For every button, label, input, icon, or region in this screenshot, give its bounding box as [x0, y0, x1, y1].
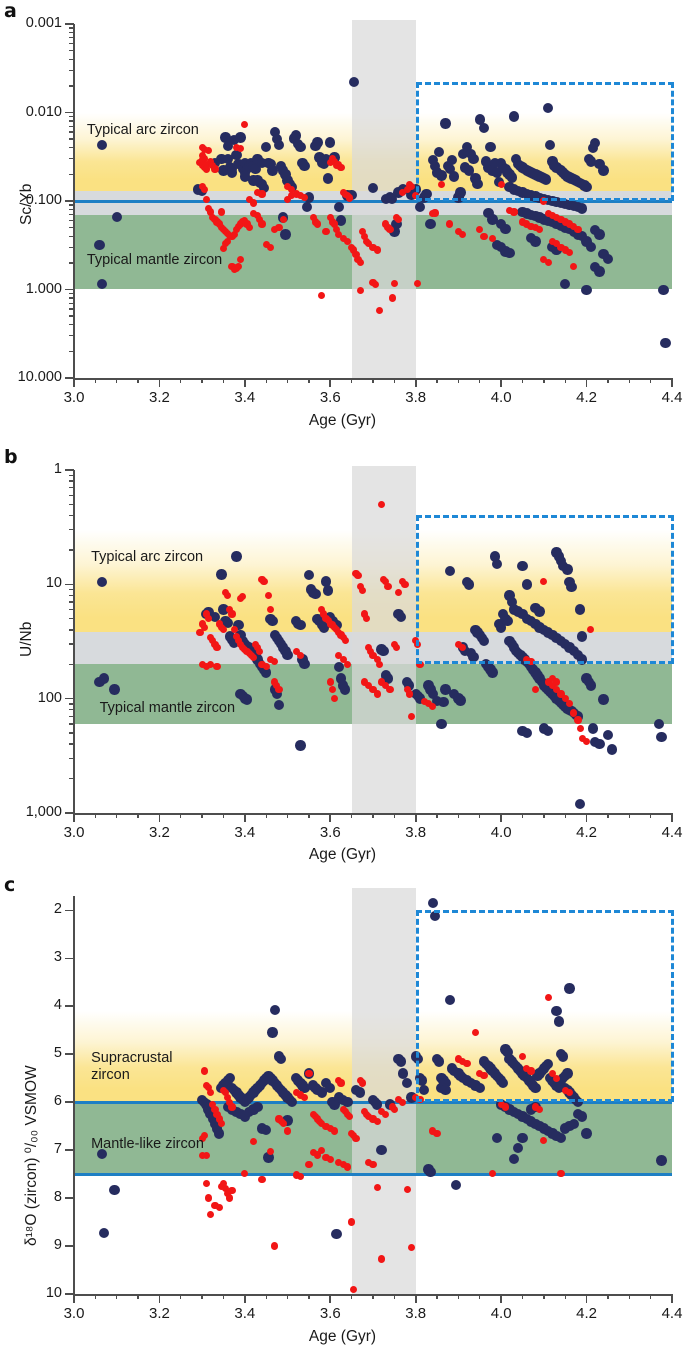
y-tick-minor: [69, 480, 74, 481]
x-tick-major: [73, 813, 75, 822]
y-tick-label: 10.000: [0, 369, 62, 385]
x-tick-minor: [266, 813, 267, 818]
data-point-red: [318, 1147, 325, 1154]
x-tick-label: 3.0: [39, 824, 109, 841]
data-point-navy: [242, 694, 252, 704]
y-tick-minor: [69, 601, 74, 602]
x-tick-minor: [308, 813, 309, 818]
y-tick-label: 5: [0, 1045, 62, 1061]
data-point-red: [237, 256, 244, 263]
data-point-navy: [598, 694, 608, 704]
y-tick-minor: [69, 85, 74, 86]
data-point-red: [216, 1204, 223, 1211]
x-tick-label: 4.0: [466, 1305, 536, 1322]
data-point-navy: [656, 732, 666, 742]
panel-b-plot-area: Typical arc zirconTypical mantle zircon1…: [74, 470, 672, 813]
data-point-red: [391, 280, 398, 287]
y-tick-minor: [69, 43, 74, 44]
x-tick-label: 4.4: [637, 1305, 685, 1322]
data-point-navy: [109, 684, 119, 694]
data-point-red: [346, 194, 353, 201]
data-point-red: [250, 199, 257, 206]
y-tick-minor: [69, 158, 74, 159]
y-tick-minor: [69, 335, 74, 336]
x-tick-minor: [565, 1294, 566, 1299]
y-tick-major: [65, 698, 74, 700]
data-point-red: [203, 196, 210, 203]
x-tick-minor: [266, 378, 267, 383]
y-tick-minor: [69, 116, 74, 117]
data-point-red: [226, 1194, 233, 1201]
data-point-navy: [257, 158, 267, 168]
x-tick-label: 3.6: [295, 1305, 365, 1322]
data-point-navy: [235, 132, 245, 142]
x-tick-label: 4.0: [466, 389, 536, 406]
data-point-navy: [312, 137, 322, 147]
x-tick-major: [586, 1294, 588, 1303]
data-point-red: [267, 1148, 274, 1155]
data-point-navy: [522, 728, 532, 738]
data-point-red: [201, 1067, 208, 1074]
data-point-navy: [588, 723, 598, 733]
y-tick-label: 4: [0, 997, 62, 1013]
y-tick-minor: [69, 50, 74, 51]
data-point-red: [536, 226, 543, 233]
data-point-red: [574, 226, 581, 233]
data-point-red: [354, 572, 361, 579]
x-tick-minor: [351, 1294, 352, 1299]
data-point-red: [284, 1127, 291, 1134]
y-tick-minor: [69, 236, 74, 237]
data-point-red: [574, 716, 581, 723]
y-tick-label: 0.100: [0, 192, 62, 208]
data-point-red: [510, 208, 517, 215]
reference-line-1: [74, 1173, 672, 1176]
y-tick-minor: [69, 227, 74, 228]
data-point-navy: [376, 1145, 386, 1155]
data-point-navy: [607, 744, 617, 754]
x-tick-minor: [629, 1294, 630, 1299]
data-point-navy: [97, 140, 107, 150]
x-tick-minor: [458, 378, 459, 383]
x-tick-minor: [180, 378, 181, 383]
x-tick-label: 3.4: [210, 1305, 280, 1322]
x-tick-major: [671, 378, 673, 387]
data-point-red: [404, 1186, 411, 1193]
y-tick-minor: [69, 126, 74, 127]
band-annotation-1: Typical mantle zircon: [100, 700, 235, 717]
data-point-red: [374, 690, 381, 697]
data-point-red: [228, 610, 235, 617]
x-tick-minor: [137, 813, 138, 818]
y-tick-minor: [69, 308, 74, 309]
x-tick-minor: [372, 1294, 373, 1299]
x-tick-label: 3.8: [381, 824, 451, 841]
y-tick-minor: [69, 487, 74, 488]
data-point-red: [570, 709, 577, 716]
data-point-red: [213, 644, 220, 651]
data-point-red: [203, 1180, 210, 1187]
data-point-navy: [355, 1087, 365, 1097]
x-tick-minor: [479, 378, 480, 383]
x-tick-label: 3.8: [381, 1305, 451, 1322]
data-point-red: [250, 654, 257, 661]
data-point-red: [275, 224, 282, 231]
x-tick-label: 4.2: [552, 824, 622, 841]
x-tick-minor: [201, 813, 202, 818]
y-tick-minor: [69, 293, 74, 294]
x-tick-minor: [607, 378, 608, 383]
data-point-red: [577, 725, 584, 732]
y-tick-minor: [69, 147, 74, 148]
x-tick-minor: [565, 378, 566, 383]
y-tick-minor: [69, 643, 74, 644]
x-tick-minor: [116, 813, 117, 818]
data-point-red: [553, 678, 560, 685]
data-point-navy: [267, 616, 277, 626]
x-tick-label: 3.4: [210, 389, 280, 406]
data-point-red: [271, 1242, 278, 1249]
data-point-red: [337, 164, 344, 171]
data-point-red: [502, 1103, 509, 1110]
x-tick-minor: [436, 813, 437, 818]
y-tick-label: 3: [0, 949, 62, 965]
x-tick-minor: [116, 378, 117, 383]
data-point-red: [318, 292, 325, 299]
y-tick-minor: [69, 220, 74, 221]
y-tick-label: 2: [0, 901, 62, 917]
x-tick-minor: [180, 813, 181, 818]
x-tick-major: [500, 378, 502, 387]
data-point-red: [480, 233, 487, 240]
data-point-navy: [581, 1128, 591, 1138]
data-point-navy: [295, 740, 305, 750]
data-point-navy: [594, 266, 604, 276]
data-point-navy: [227, 167, 237, 177]
y-tick-major: [65, 200, 74, 202]
x-tick-major: [159, 378, 161, 387]
data-point-navy: [396, 1056, 406, 1066]
data-point-red: [218, 208, 225, 215]
x-tick-major: [73, 378, 75, 387]
x-tick-minor: [95, 813, 96, 818]
x-tick-minor: [287, 378, 288, 383]
y-tick-major: [65, 1245, 74, 1247]
data-point-red: [489, 1170, 496, 1177]
data-point-red: [408, 1244, 415, 1251]
data-point-red: [348, 1218, 355, 1225]
data-point-navy: [334, 662, 344, 672]
y-tick-label: 0.001: [0, 15, 62, 31]
panel-a: a Sc/Yb Age (Gyr) Typical arc zirconTypi…: [0, 0, 685, 432]
data-point-navy: [660, 338, 670, 348]
data-point-red: [267, 244, 274, 251]
x-tick-label: 3.2: [124, 824, 194, 841]
data-point-navy: [517, 1133, 527, 1143]
y-tick-minor: [69, 629, 74, 630]
y-tick-minor: [69, 324, 74, 325]
data-point-red: [583, 738, 590, 745]
data-point-navy: [455, 695, 465, 705]
x-tick-major: [244, 1294, 246, 1303]
x-tick-label: 3.2: [124, 389, 194, 406]
y-tick-major: [65, 1053, 74, 1055]
x-tick-minor: [372, 813, 373, 818]
data-point-navy: [325, 137, 335, 147]
panel-c-label: c: [4, 876, 15, 895]
panel-c: c δ¹⁸O (zircon) ⁰/₀₀ VSMOW Age (Gyr) Sup…: [0, 866, 685, 1351]
data-point-red: [305, 1070, 312, 1077]
x-tick-label: 3.0: [39, 389, 109, 406]
x-tick-minor: [180, 1294, 181, 1299]
y-tick-major: [65, 1149, 74, 1151]
y-tick-label: 10: [0, 575, 62, 591]
data-point-navy: [594, 229, 604, 239]
y-tick-major: [65, 958, 74, 960]
y-tick-minor: [69, 703, 74, 704]
y-tick-label: 9: [0, 1237, 62, 1253]
data-point-red: [297, 652, 304, 659]
data-point-red: [275, 686, 282, 693]
x-tick-major: [415, 1294, 417, 1303]
data-point-red: [246, 224, 253, 231]
y-tick-minor: [69, 495, 74, 496]
zircon-geochemistry-figure: a Sc/Yb Age (Gyr) Typical arc zirconTypi…: [0, 0, 685, 1351]
data-point-navy: [97, 577, 107, 587]
x-tick-minor: [137, 1294, 138, 1299]
x-tick-minor: [223, 378, 224, 383]
data-point-red: [406, 690, 413, 697]
y-tick-minor: [69, 529, 74, 530]
x-tick-minor: [543, 1294, 544, 1299]
data-point-red: [344, 1163, 351, 1170]
y-tick-minor: [69, 297, 74, 298]
data-point-red: [265, 592, 272, 599]
x-tick-minor: [394, 378, 395, 383]
data-point-navy: [504, 248, 514, 258]
data-point-navy: [295, 142, 305, 152]
data-point-red: [327, 678, 334, 685]
data-point-red: [384, 583, 391, 590]
data-point-navy: [483, 208, 493, 218]
x-tick-minor: [607, 813, 608, 818]
data-point-red: [201, 186, 208, 193]
y-tick-minor: [69, 778, 74, 779]
data-point-red: [374, 246, 381, 253]
x-tick-label: 4.2: [552, 1305, 622, 1322]
x-tick-major: [73, 1294, 75, 1303]
y-tick-minor: [69, 515, 74, 516]
data-point-red: [374, 1184, 381, 1191]
y-tick-minor: [69, 174, 74, 175]
x-tick-major: [244, 378, 246, 387]
band-annotation-0: Typical arc zircon: [91, 549, 203, 566]
data-point-red: [374, 1118, 381, 1125]
data-point-red: [433, 1130, 440, 1137]
x-tick-minor: [543, 378, 544, 383]
x-tick-minor: [650, 378, 651, 383]
data-point-navy: [487, 667, 497, 677]
data-point-red: [532, 686, 539, 693]
data-point-red: [357, 287, 364, 294]
y-tick-major: [65, 112, 74, 114]
x-tick-label: 3.0: [39, 1305, 109, 1322]
highlight-box: [416, 82, 674, 201]
x-tick-major: [500, 813, 502, 822]
band-annotation-0: Typical arc zircon: [87, 122, 199, 139]
x-tick-major: [415, 813, 417, 822]
x-tick-minor: [522, 813, 523, 818]
x-tick-label: 4.0: [466, 824, 536, 841]
data-point-red: [322, 228, 329, 235]
y-tick-major: [65, 1005, 74, 1007]
y-tick-label: 6: [0, 1093, 62, 1109]
x-tick-major: [671, 813, 673, 822]
y-tick-minor: [69, 37, 74, 38]
x-tick-label: 3.6: [295, 824, 365, 841]
data-point-red: [207, 1211, 214, 1218]
x-tick-major: [415, 378, 417, 387]
y-tick-minor: [69, 131, 74, 132]
data-point-red: [386, 686, 393, 693]
y-tick-minor: [69, 618, 74, 619]
data-point-navy: [323, 173, 333, 183]
x-tick-minor: [436, 1294, 437, 1299]
panel-a-x-axis-title: Age (Gyr): [0, 412, 685, 430]
y-tick-label: 1: [0, 461, 62, 477]
x-tick-minor: [650, 1294, 651, 1299]
panel-c-x-axis-title: Age (Gyr): [0, 1328, 685, 1346]
x-tick-major: [329, 378, 331, 387]
data-point-red: [205, 1194, 212, 1201]
x-tick-major: [329, 813, 331, 822]
y-tick-major: [65, 910, 74, 912]
y-tick-minor: [69, 209, 74, 210]
y-tick-label: 1,000: [0, 804, 62, 820]
data-point-red: [201, 624, 208, 631]
y-tick-major: [65, 584, 74, 586]
data-point-navy: [223, 154, 233, 164]
data-point-navy: [436, 719, 446, 729]
data-point-red: [557, 1170, 564, 1177]
x-tick-minor: [223, 813, 224, 818]
y-tick-minor: [69, 120, 74, 121]
x-tick-minor: [629, 813, 630, 818]
y-tick-label: 7: [0, 1141, 62, 1157]
y-tick-minor: [69, 204, 74, 205]
data-point-navy: [658, 285, 668, 295]
x-tick-minor: [308, 378, 309, 383]
x-tick-minor: [650, 813, 651, 818]
y-tick-minor: [69, 262, 74, 263]
data-point-navy: [99, 1228, 109, 1238]
y-tick-minor: [69, 475, 74, 476]
data-point-navy: [428, 898, 438, 908]
data-point-red: [376, 307, 383, 314]
x-tick-major: [586, 378, 588, 387]
y-tick-minor: [69, 138, 74, 139]
y-tick-minor: [69, 27, 74, 28]
y-tick-minor: [69, 303, 74, 304]
data-point-navy: [530, 236, 540, 246]
panel-b-x-axis-title: Age (Gyr): [0, 846, 685, 864]
data-point-red: [376, 661, 383, 668]
data-point-red: [378, 1255, 385, 1262]
y-tick-minor: [69, 351, 74, 352]
x-tick-major: [159, 813, 161, 822]
data-point-red: [344, 661, 351, 668]
y-tick-major: [65, 1101, 74, 1103]
data-point-red: [352, 1135, 359, 1142]
y-tick-label: 100: [0, 690, 62, 706]
y-axis-line: [73, 470, 75, 813]
data-point-navy: [231, 551, 241, 561]
data-point-navy: [331, 1229, 341, 1239]
data-point-navy: [99, 673, 109, 683]
x-tick-minor: [201, 1294, 202, 1299]
data-point-navy: [94, 240, 104, 250]
y-tick-label: 8: [0, 1189, 62, 1205]
y-tick-minor: [69, 732, 74, 733]
data-point-red: [228, 1103, 235, 1110]
data-point-navy: [425, 219, 435, 229]
data-point-red: [297, 1173, 304, 1180]
x-tick-minor: [522, 1294, 523, 1299]
y-tick-minor: [69, 589, 74, 590]
x-tick-label: 3.8: [381, 389, 451, 406]
y-tick-minor: [69, 214, 74, 215]
data-point-red: [372, 281, 379, 288]
x-tick-minor: [351, 378, 352, 383]
y-tick-minor: [69, 758, 74, 759]
x-tick-label: 3.6: [295, 389, 365, 406]
data-point-red: [314, 220, 321, 227]
data-point-red: [258, 190, 265, 197]
data-point-navy: [500, 224, 510, 234]
panel-b-y-axis-title: U/Nb: [18, 622, 36, 657]
data-point-navy: [295, 620, 305, 630]
y-tick-major: [65, 1197, 74, 1199]
y-tick-minor: [69, 549, 74, 550]
x-tick-major: [500, 1294, 502, 1303]
x-tick-minor: [95, 378, 96, 383]
data-point-red: [241, 1170, 248, 1177]
highlight-box: [416, 910, 674, 1102]
data-point-navy: [654, 719, 664, 729]
x-tick-minor: [479, 1294, 480, 1299]
x-tick-label: 3.4: [210, 824, 280, 841]
x-tick-label: 4.2: [552, 389, 622, 406]
x-tick-minor: [201, 378, 202, 383]
panel-b: b U/Nb Age (Gyr) Typical arc zirconTypic…: [0, 432, 685, 866]
y-tick-minor: [69, 743, 74, 744]
data-point-red: [305, 1161, 312, 1168]
data-point-navy: [267, 1027, 277, 1037]
x-tick-minor: [629, 378, 630, 383]
y-tick-minor: [69, 247, 74, 248]
y-tick-label: 0.010: [0, 104, 62, 120]
data-point-red: [258, 1176, 265, 1183]
x-tick-minor: [543, 813, 544, 818]
shaded-age-interval: [352, 466, 416, 813]
data-point-navy: [282, 650, 292, 660]
y-tick-minor: [69, 32, 74, 33]
data-point-red: [389, 294, 396, 301]
x-tick-label: 4.4: [637, 389, 685, 406]
data-point-navy: [214, 1128, 224, 1138]
y-axis-line: [73, 896, 75, 1294]
x-tick-minor: [137, 378, 138, 383]
